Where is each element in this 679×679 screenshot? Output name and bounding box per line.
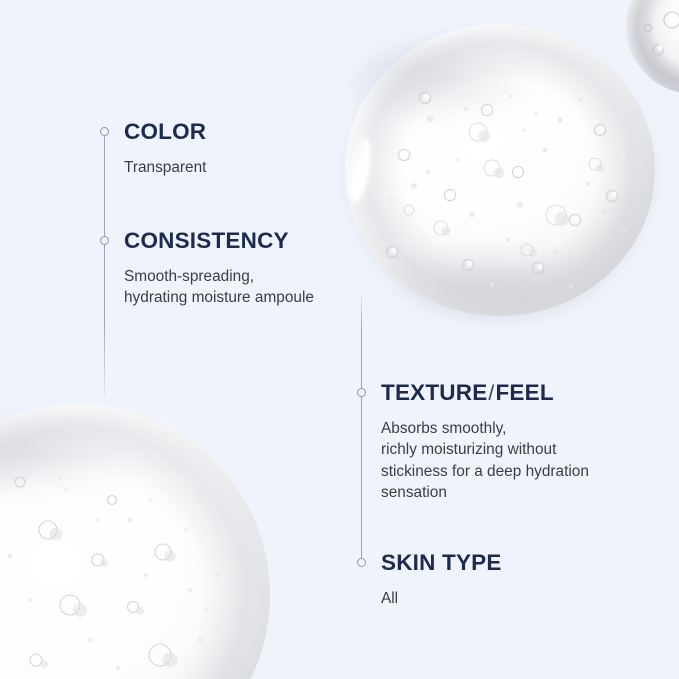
spec-body-consistency: Smooth-spreading, hydrating moisture amp…: [124, 266, 314, 309]
product-texture-infographic: COLOR Transparent CONSISTENCY Smooth-spr…: [0, 0, 679, 679]
spec-heading-texture: TEXTURE: [381, 380, 487, 405]
spec-heading-skin-type: SKIN TYPE: [381, 552, 502, 575]
spec-body-texture-feel: Absorbs smoothly, richly moisturizing wi…: [381, 418, 589, 504]
gel-droplet-large-specular-highlight: [347, 138, 373, 202]
gel-bubbles-overlay: [0, 0, 679, 679]
gel-droplet-large-bottom-shading: [385, 225, 620, 320]
spec-heading-consistency: CONSISTENCY: [124, 230, 314, 253]
spec-entry-texture-feel: TEXTURE/FEEL Absorbs smoothly, richly mo…: [381, 382, 589, 504]
gel-droplet-corner: [626, 0, 679, 94]
gel-droplet-bottom-left-top-shading: [0, 408, 200, 528]
gel-droplet-corner-rim: [626, 0, 679, 94]
bullet-circle-icon: [357, 558, 366, 567]
gel-droplet-bottom-left-rim: [0, 404, 270, 679]
timeline-connector-right: [361, 292, 362, 566]
timeline-connector-left: [104, 128, 105, 396]
spec-heading-texture-feel: TEXTURE/FEEL: [381, 382, 589, 405]
spec-body-color: Transparent: [124, 157, 206, 179]
spec-body-skin-type: All: [381, 588, 502, 610]
spec-heading-color: COLOR: [124, 121, 206, 144]
gel-droplet-bottom-left: [0, 404, 270, 679]
bullet-circle-icon: [100, 236, 109, 245]
gel-droplet-large-rim: [345, 24, 655, 316]
bullet-circle-icon: [100, 127, 109, 136]
spec-entry-consistency: CONSISTENCY Smooth-spreading, hydrating …: [124, 230, 314, 309]
spec-entry-skin-type: SKIN TYPE All: [381, 552, 502, 609]
bullet-circle-icon: [357, 388, 366, 397]
spec-heading-feel: FEEL: [495, 380, 553, 405]
spec-entry-color: COLOR Transparent: [124, 121, 206, 178]
gel-droplet-large-top-shading: [352, 28, 602, 148]
gel-droplet-large: [345, 24, 655, 316]
